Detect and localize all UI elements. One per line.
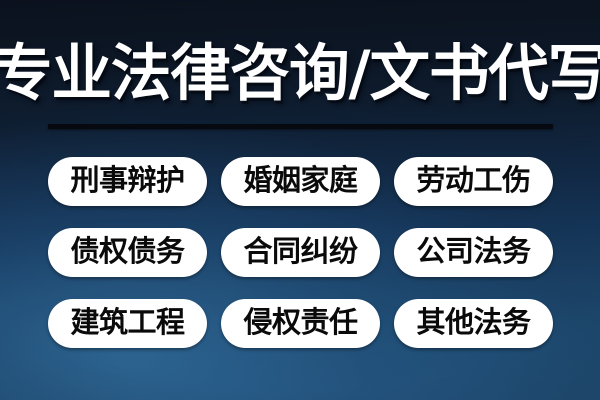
service-pill-label: 刑事辩护 — [70, 166, 184, 195]
service-pill-label: 公司法务 — [416, 237, 530, 266]
poster-content: 专业法律咨询/文书代写 刑事辩护 婚姻家庭 劳动工伤 债权债务 — [0, 0, 600, 400]
service-pill-label: 合同纠纷 — [243, 237, 357, 266]
service-pill-criminal-defense[interactable]: 刑事辩护 — [48, 157, 207, 206]
service-pill-grid: 刑事辩护 婚姻家庭 劳动工伤 债权债务 合同纠纷 公司法务 — [48, 157, 553, 348]
service-row: 刑事辩护 婚姻家庭 劳动工伤 — [48, 157, 553, 206]
service-pill-contract-dispute[interactable]: 合同纠纷 — [221, 228, 380, 277]
service-pill-corporate-legal[interactable]: 公司法务 — [394, 228, 553, 277]
service-pill-label: 劳动工伤 — [416, 166, 530, 195]
service-pill-creditor-debt[interactable]: 债权债务 — [48, 228, 207, 277]
service-pill-other-legal[interactable]: 其他法务 — [394, 299, 553, 348]
service-pill-marriage-family[interactable]: 婚姻家庭 — [221, 157, 380, 206]
legal-services-poster: 专业法律咨询/文书代写 刑事辩护 婚姻家庭 劳动工伤 债权债务 — [0, 0, 600, 400]
service-pill-construction-engineering[interactable]: 建筑工程 — [48, 299, 207, 348]
service-row: 建筑工程 侵权责任 其他法务 — [48, 299, 553, 348]
poster-title: 专业法律咨询/文书代写 — [0, 43, 600, 104]
service-pill-label: 侵权责任 — [243, 308, 357, 337]
service-row: 债权债务 合同纠纷 公司法务 — [48, 228, 553, 277]
service-pill-label: 其他法务 — [416, 308, 530, 337]
service-pill-tort-liability[interactable]: 侵权责任 — [221, 299, 380, 348]
service-pill-label: 债权债务 — [70, 237, 184, 266]
service-pill-labor-injury[interactable]: 劳动工伤 — [394, 157, 553, 206]
poster-title-block: 专业法律咨询/文书代写 — [44, 30, 556, 116]
title-divider — [48, 124, 553, 129]
service-pill-label: 建筑工程 — [70, 308, 184, 337]
service-pill-label: 婚姻家庭 — [243, 166, 357, 195]
